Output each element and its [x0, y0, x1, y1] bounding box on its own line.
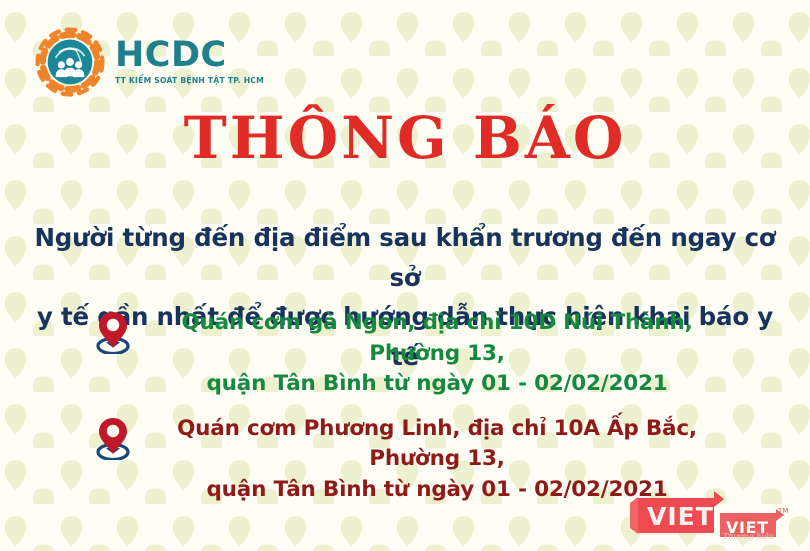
viet-watermark-logo: VIET VIET Thương hiệu TM — [628, 487, 796, 545]
viet-primary-mark: VIET — [630, 491, 724, 534]
hcdc-wordmark: HCDC TT KIỂM SOÁT BỆNH TẬT TP. HCM — [115, 39, 264, 85]
location-line-1: Quán cơm Phương Linh, địa chỉ 10A Ấp Bắc… — [144, 414, 730, 475]
viet-tagline: Thương hiệu — [723, 532, 774, 541]
hcdc-subtitle: TT KIỂM SOÁT BỆNH TẬT TP. HCM — [115, 77, 264, 85]
viet-secondary-mark: VIET Thương hiệu TM — [720, 507, 788, 541]
location-line-1: Quán cơm gà Ngon, địa chỉ 10D Núi Thành,… — [144, 308, 730, 369]
location-line-2: quận Tân Bình từ ngày 01 - 02/02/2021 — [144, 369, 730, 400]
hcdc-logo: HCDC TT KIỂM SOÁT BỆNH TẬT TP. HCM — [34, 26, 264, 98]
instruction-line-1: Người từng đến địa điểm sau khẩn trương … — [30, 218, 780, 297]
list-item: Quán cơm gà Ngon, địa chỉ 10D Núi Thành,… — [0, 308, 810, 400]
location-text: Quán cơm gà Ngon, địa chỉ 10D Núi Thành,… — [144, 308, 770, 400]
hcdc-title: HCDC — [115, 39, 227, 72]
notice-poster: HCDC TT KIỂM SOÁT BỆNH TẬT TP. HCM THÔNG… — [0, 0, 810, 551]
hcdc-emblem-icon — [34, 26, 106, 98]
map-pin-icon — [96, 310, 130, 354]
viet-trademark: TM — [777, 507, 788, 515]
map-pin-icon — [96, 416, 130, 460]
viet-primary-label: VIET — [647, 502, 714, 531]
page-title: THÔNG BÁO — [0, 108, 810, 169]
